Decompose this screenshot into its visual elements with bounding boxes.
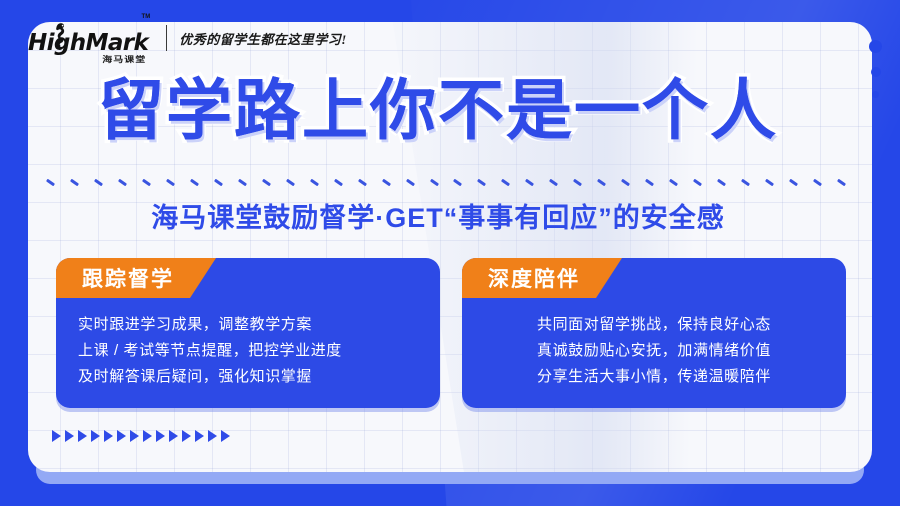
triangle-arrow-icon [169, 430, 178, 442]
dash-mark [94, 178, 103, 186]
seahorse-icon [54, 22, 67, 48]
dash-mark [573, 178, 582, 186]
dash-mark [286, 178, 295, 186]
dash-mark [453, 178, 462, 186]
dash-mark [645, 178, 654, 186]
card-body-companionship: 共同面对留学挑战，保持良好心态 真诚鼓励贴心安抚，加满情绪价值 分享生活大事小情… [462, 298, 846, 390]
dash-mark [166, 178, 175, 186]
dash-mark [118, 178, 127, 186]
dash-mark [334, 178, 343, 186]
triangle-arrow-icon [65, 430, 74, 442]
promo-banner: HighMark TM 海马课堂 优秀的留学生都在这里学习! 留学路上你不是一个… [0, 0, 900, 506]
logo-chinese-name: 海马课堂 [102, 52, 146, 64]
dash-mark [142, 178, 151, 186]
dot-decoration-group [869, 40, 882, 98]
dash-mark [477, 178, 486, 186]
card-tab-label: 跟踪督学 [82, 263, 174, 293]
triangle-arrow-icon [208, 430, 217, 442]
dash-mark [621, 178, 630, 186]
card-body-tracking: 实时跟进学习成果，调整教学方案 上课 / 考试等节点提醒，把控学业进度 及时解答… [56, 298, 440, 390]
triangle-arrow-icon [130, 430, 139, 442]
triangle-arrow-icon [117, 430, 126, 442]
dot-medium-icon [871, 67, 881, 77]
triangle-arrow-icon [182, 430, 191, 442]
triangle-arrow-icon [221, 430, 230, 442]
card-line: 真诚鼓励贴心安抚，加满情绪价值 [484, 338, 824, 364]
triangle-arrow-icon [52, 430, 61, 442]
highmark-logo: HighMark TM 海马课堂 [28, 21, 148, 55]
card-line: 及时解答课后疑问，强化知识掌握 [78, 364, 418, 390]
card-tab-tracking: 跟踪督学 [56, 258, 216, 298]
feature-card-group: 跟踪督学 实时跟进学习成果，调整教学方案 上课 / 考试等节点提醒，把控学业进度… [56, 258, 846, 408]
dash-mark [525, 178, 534, 186]
dash-mark [262, 178, 271, 186]
dash-mark [789, 178, 798, 186]
arrow-decoration-row [52, 430, 230, 442]
dash-mark [597, 178, 606, 186]
card-tab-label: 深度陪伴 [488, 263, 580, 293]
feature-card-companionship: 深度陪伴 共同面对留学挑战，保持良好心态 真诚鼓励贴心安抚，加满情绪价值 分享生… [462, 258, 846, 408]
feature-card-tracking: 跟踪督学 实时跟进学习成果，调整教学方案 上课 / 考试等节点提醒，把控学业进度… [56, 258, 440, 408]
dash-mark [382, 178, 391, 186]
dot-large-icon [869, 40, 882, 53]
page-title: 留学路上你不是一个人 [32, 72, 844, 150]
page-subtitle: 海马课堂鼓励督学·GET“事事有回应”的安全感 [32, 198, 844, 238]
dash-mark [549, 178, 558, 186]
triangle-arrow-icon [78, 430, 87, 442]
triangle-arrow-icon [91, 430, 100, 442]
dash-mark [405, 178, 414, 186]
dash-mark [190, 178, 199, 186]
dash-mark [717, 178, 726, 186]
dash-mark [837, 178, 846, 186]
dash-mark [669, 178, 678, 186]
triangle-arrow-icon [156, 430, 165, 442]
card-line: 上课 / 考试等节点提醒，把控学业进度 [78, 338, 418, 364]
dot-small-icon [872, 91, 879, 98]
trademark-symbol: TM [142, 14, 151, 20]
dash-mark [310, 178, 319, 186]
card-line: 共同面对留学挑战，保持良好心态 [484, 312, 824, 338]
dashed-divider [46, 176, 846, 188]
triangle-arrow-icon [143, 430, 152, 442]
card-tab-companionship: 深度陪伴 [462, 258, 622, 298]
dash-mark [741, 178, 750, 186]
dash-mark [238, 178, 247, 186]
card-line: 分享生活大事小情，传递温暖陪伴 [484, 364, 824, 390]
dash-mark [693, 178, 702, 186]
dash-mark [46, 178, 55, 186]
brand-tagline: 优秀的留学生都在这里学习! [179, 29, 347, 48]
card-line: 实时跟进学习成果，调整教学方案 [78, 312, 418, 338]
dash-mark [358, 178, 367, 186]
header-divider [166, 25, 167, 51]
dash-mark [765, 178, 774, 186]
triangle-arrow-icon [104, 430, 113, 442]
triangle-arrow-icon [195, 430, 204, 442]
dash-mark [429, 178, 438, 186]
dash-mark [70, 178, 79, 186]
dash-mark [214, 178, 223, 186]
dash-mark [813, 178, 822, 186]
dash-mark [501, 178, 510, 186]
brand-header: HighMark TM 海马课堂 优秀的留学生都在这里学习! [28, 20, 347, 56]
